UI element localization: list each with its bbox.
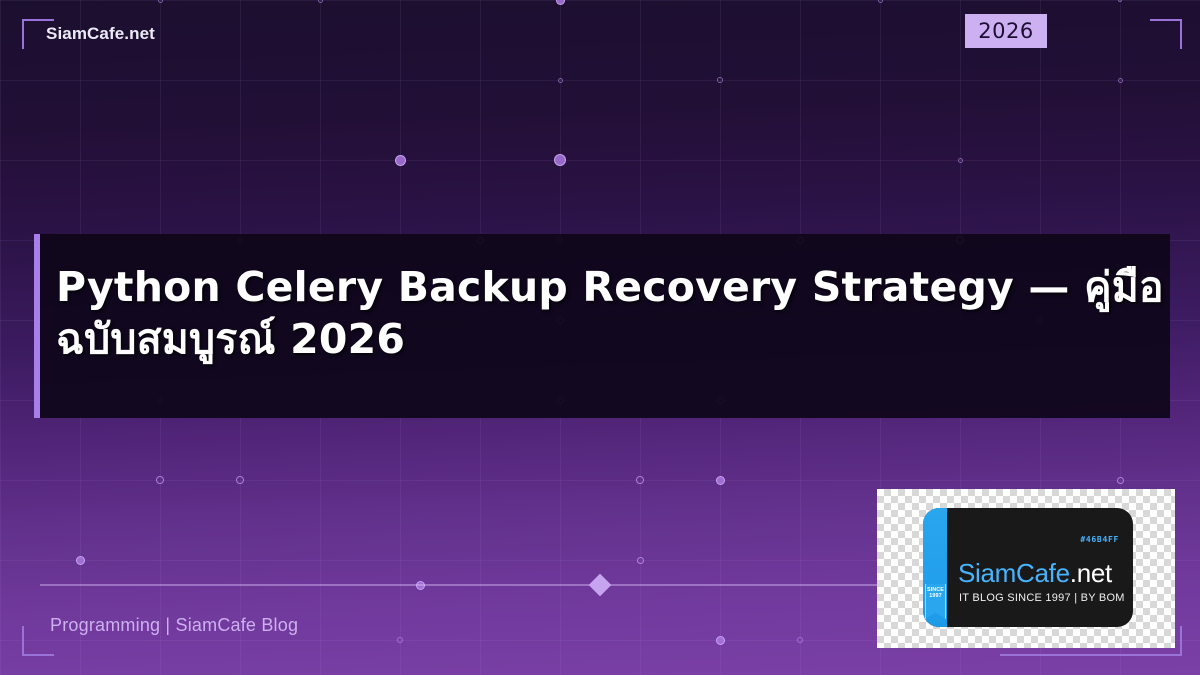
logo-wordmark-suffix: .net — [1070, 558, 1112, 588]
background-dot — [797, 637, 803, 643]
background-dot — [554, 154, 566, 166]
background-dot — [637, 557, 644, 564]
background-dot — [636, 476, 644, 484]
page-title: Python Celery Backup Recovery Strategy —… — [56, 261, 1166, 365]
background-dot — [1118, 78, 1123, 83]
background-dot — [318, 0, 323, 3]
brand-label: SiamCafe.net — [46, 24, 155, 44]
logo-wordmark: SiamCafe.net — [958, 558, 1112, 589]
logo-image-frame: SINCE 1997 #46B4FF SiamCafe.net IT BLOG … — [877, 489, 1175, 648]
footer-diamond-marker — [589, 574, 612, 597]
logo-tagline: IT BLOG SINCE 1997 | BY BOM — [959, 592, 1125, 604]
background-dot — [558, 78, 563, 83]
banner-canvas: SiamCafe.net 2026 Python Celery Backup R… — [0, 0, 1200, 675]
background-dot — [1117, 477, 1124, 484]
logo-wordmark-primary: SiamCafe — [958, 558, 1070, 588]
background-dot — [717, 77, 723, 83]
footer-category-label: Programming | SiamCafe Blog — [50, 615, 298, 636]
background-dot — [556, 0, 565, 5]
background-dot — [158, 0, 163, 3]
brand-hex-label: #46B4FF — [1080, 535, 1119, 544]
background-dot — [1118, 0, 1122, 2]
background-dot — [716, 636, 725, 645]
background-dot — [76, 556, 85, 565]
background-dot — [716, 476, 725, 485]
background-dot — [958, 158, 963, 163]
year-badge-label: 2026 — [978, 19, 1033, 43]
background-dot — [395, 155, 406, 166]
background-dot — [878, 0, 883, 3]
logo-card: SINCE 1997 #46B4FF SiamCafe.net IT BLOG … — [923, 508, 1133, 627]
background-dot — [236, 476, 244, 484]
background-dot — [156, 476, 164, 484]
background-dot — [397, 637, 403, 643]
year-badge: 2026 — [965, 14, 1047, 48]
title-accent-bar — [34, 234, 40, 418]
ribbon-line-2: 1997 — [929, 593, 941, 599]
corner-bracket-top-right — [1150, 19, 1182, 49]
